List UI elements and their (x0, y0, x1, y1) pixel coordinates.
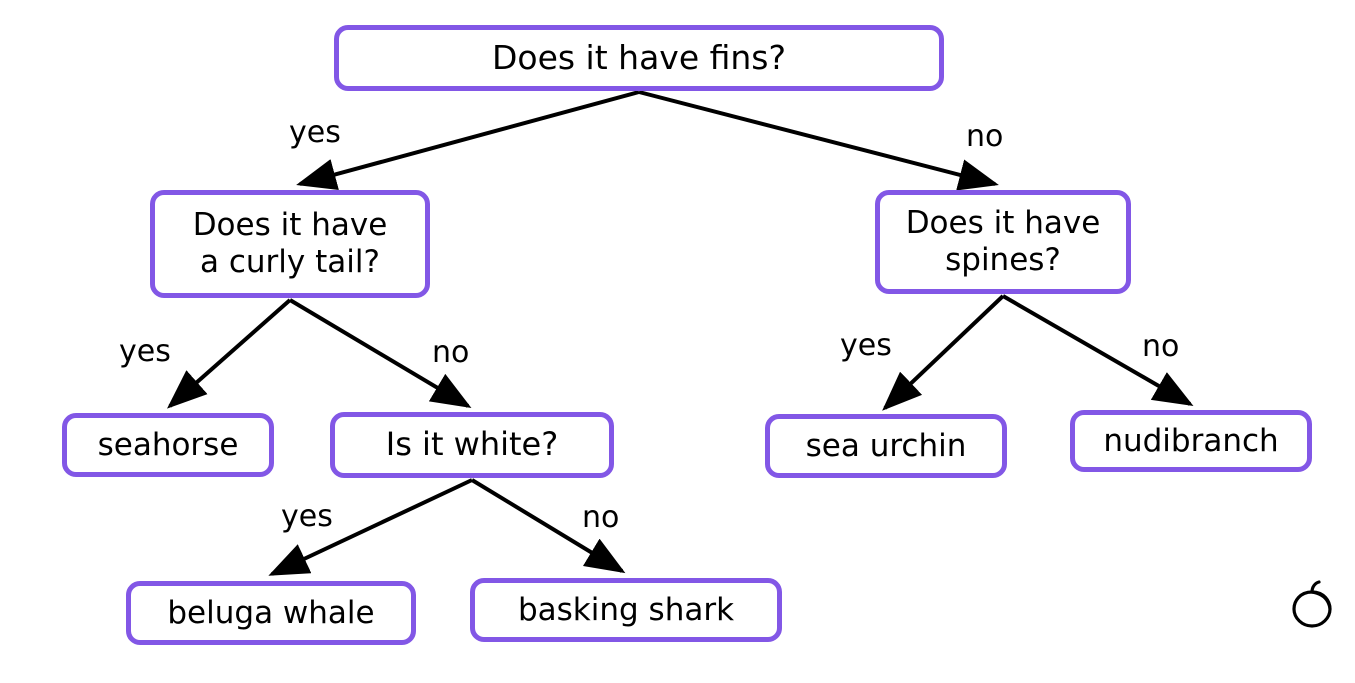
edge-curly-yes (170, 300, 290, 406)
edge-label-white-no: no (582, 503, 619, 533)
node-basking-shark[interactable]: basking shark (470, 578, 782, 642)
node-curly-tail-label: Does it have a curly tail? (183, 207, 398, 280)
edge-root-no (639, 92, 995, 184)
edge-root-yes (300, 92, 639, 184)
node-nudibranch-label: nudibranch (1093, 423, 1288, 460)
node-nudibranch[interactable]: nudibranch (1070, 410, 1312, 472)
node-seahorse[interactable]: seahorse (62, 413, 274, 477)
edge-label-curly-yes: yes (119, 337, 171, 367)
node-spines[interactable]: Does it have spines? (875, 190, 1131, 294)
edge-label-spines-no: no (1142, 332, 1179, 362)
edge-label-spines-yes: yes (840, 331, 892, 361)
node-spines-label: Does it have spines? (896, 205, 1111, 278)
diagram-canvas: Does it have fins? Does it have a curly … (0, 0, 1355, 683)
edge-label-root-yes: yes (289, 118, 341, 148)
edge-label-curly-no: no (432, 338, 469, 368)
node-root-label: Does it have fins? (482, 39, 796, 78)
edge-label-root-no: no (966, 122, 1003, 152)
node-beluga-whale[interactable]: beluga whale (126, 581, 416, 645)
node-basking-shark-label: basking shark (508, 592, 744, 629)
node-sea-urchin-label: sea urchin (796, 428, 977, 465)
acorn-leaf-logo-icon (1290, 580, 1334, 630)
node-is-white[interactable]: Is it white? (330, 412, 614, 478)
edge-label-white-yes: yes (281, 502, 333, 532)
node-beluga-whale-label: beluga whale (157, 595, 384, 632)
node-seahorse-label: seahorse (88, 427, 249, 464)
edge-spines-yes (885, 296, 1003, 408)
node-sea-urchin[interactable]: sea urchin (765, 414, 1007, 478)
node-root[interactable]: Does it have fins? (334, 25, 944, 91)
node-is-white-label: Is it white? (376, 426, 568, 464)
node-curly-tail[interactable]: Does it have a curly tail? (150, 190, 430, 298)
